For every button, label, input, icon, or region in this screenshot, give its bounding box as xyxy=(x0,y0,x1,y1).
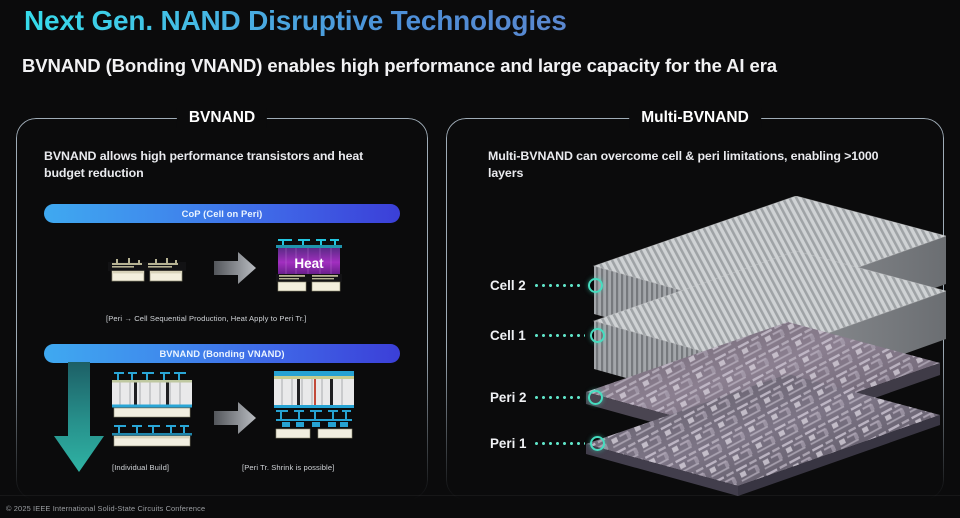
footer-copyright: © 2025 IEEE International Solid-State Ci… xyxy=(6,504,205,513)
stack-label-cell-1: Cell 1 xyxy=(490,328,605,343)
panel-multi-bvnand-notch: Multi-BVNAND xyxy=(629,108,761,128)
heat-label: Heat xyxy=(294,256,324,271)
panel-bvnand-notch: BVNAND xyxy=(177,108,267,128)
stack-label-peri-1-text: Peri 1 xyxy=(490,436,526,451)
caption-individual-build: [Individual Build] xyxy=(112,463,169,472)
slide-root: Next Gen. NAND Disruptive Technologies B… xyxy=(0,0,960,518)
flow-down-arrow-icon xyxy=(52,362,106,476)
bvnand-individual-build-illustration xyxy=(110,370,196,458)
panel-multi-bvnand-description: Multi-BVNAND can overcome cell & peri li… xyxy=(488,148,888,182)
bar-cop: CoP (Cell on Peri) xyxy=(44,204,400,223)
page-subtitle: BVNAND (Bonding VNAND) enables high perf… xyxy=(22,55,777,77)
cop-process-arrow-icon xyxy=(212,250,258,286)
connector-ring-cell-2 xyxy=(588,278,603,293)
caption-cop: [Peri → Cell Sequential Production, Heat… xyxy=(106,314,306,323)
stack-label-cell-2-text: Cell 2 xyxy=(490,278,526,293)
bar-bvnand: BVNAND (Bonding VNAND) xyxy=(44,344,400,363)
panel-bvnand-title: BVNAND xyxy=(189,109,255,127)
connector-ring-peri-1 xyxy=(590,436,605,451)
panel-multi-bvnand-title: Multi-BVNAND xyxy=(641,109,749,127)
panel-bvnand: BVNAND BVNAND allows high performance tr… xyxy=(16,118,428,500)
connector-dots-cell-2 xyxy=(533,284,583,287)
multi-bvnand-3d-stack-illustration xyxy=(556,196,946,496)
page-title: Next Gen. NAND Disruptive Technologies xyxy=(24,5,567,37)
stack-label-cell-1-text: Cell 1 xyxy=(490,328,526,343)
connector-ring-cell-1 xyxy=(590,328,605,343)
panel-bvnand-description: BVNAND allows high performance transisto… xyxy=(44,148,394,182)
caption-peri-shrink: [Peri Tr. Shrink is possible] xyxy=(242,463,334,472)
stack-label-peri-1: Peri 1 xyxy=(490,436,605,451)
connector-ring-peri-2 xyxy=(588,390,603,405)
cop-heat-chip-illustration: Heat xyxy=(274,238,344,296)
cop-peri-chip-illustration xyxy=(108,246,186,286)
stack-label-peri-2-text: Peri 2 xyxy=(490,390,526,405)
panel-multi-bvnand: Multi-BVNAND Multi-BVNAND can overcome c… xyxy=(446,118,944,500)
connector-dots-peri-2 xyxy=(533,396,583,399)
stack-label-cell-2: Cell 2 xyxy=(490,278,603,293)
footer-divider xyxy=(0,495,960,496)
connector-dots-cell-1 xyxy=(533,334,585,337)
bar-cop-label: CoP (Cell on Peri) xyxy=(182,208,263,219)
connector-dots-peri-1 xyxy=(533,442,585,445)
bar-bvnand-label: BVNAND (Bonding VNAND) xyxy=(159,348,284,359)
bvnand-bonded-result-illustration xyxy=(272,370,358,458)
bvnand-process-arrow-icon xyxy=(212,400,258,436)
stack-label-peri-2: Peri 2 xyxy=(490,390,603,405)
